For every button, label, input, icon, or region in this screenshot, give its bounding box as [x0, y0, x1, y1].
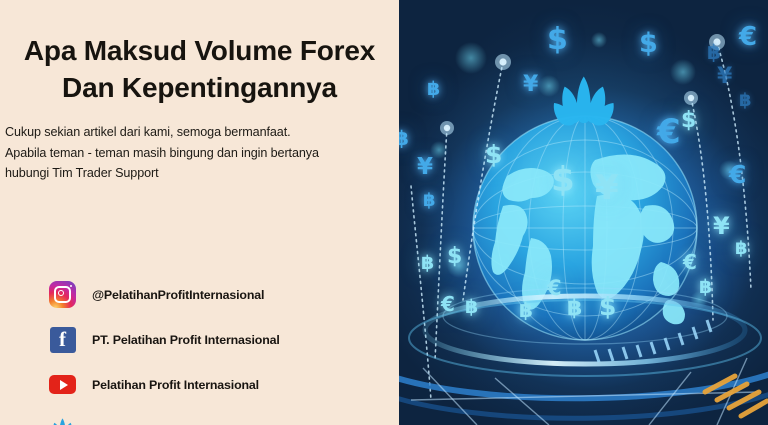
currency-symbol-baht: ฿ [739, 90, 752, 111]
lotus-logo-icon [48, 415, 77, 425]
social-link-youtube[interactable]: Pelatihan Profit Internasional [48, 362, 398, 407]
social-link-website[interactable]: www.PelatihanProfitInternasional.com [48, 407, 398, 425]
poster-canvas: Apa Maksud Volume Forex Dan Kepentingann… [0, 0, 768, 425]
currency-symbol-baht: ฿ [699, 276, 712, 298]
page-title-line-1: Apa Maksud Volume Forex [0, 33, 399, 70]
currency-symbol-baht: ฿ [423, 190, 436, 211]
social-link-facebook[interactable]: f PT. Pelatihan Profit Internasional [48, 317, 398, 362]
currency-symbol-dollar: $ [547, 22, 568, 57]
currency-symbol-dollar: $ [599, 292, 616, 321]
currency-symbol-dollar: $ [681, 108, 696, 133]
currency-symbol-dollar: $ [639, 28, 658, 59]
currency-symbol-euro: € [441, 292, 455, 316]
currency-symbol-yen: ¥ [523, 72, 538, 97]
currency-symbol-baht: ฿ [465, 296, 478, 318]
social-label-facebook: PT. Pelatihan Profit Internasional [92, 333, 280, 347]
currency-symbol-baht: ฿ [399, 126, 409, 150]
page-title-line-2: Dan Kepentingannya [0, 70, 399, 107]
currency-symbol-yen: ¥ [417, 154, 433, 180]
body-line-1: Cukup sekian artikel dari kami, semoga b… [5, 122, 399, 143]
currency-symbol-baht: ฿ [735, 238, 748, 259]
currency-symbol-baht: ฿ [707, 40, 721, 64]
left-content-panel: Apa Maksud Volume Forex Dan Kepentingann… [0, 0, 399, 425]
forex-globe-illustration: $ $ € ฿ ¥ € ฿ ¥ € ฿ $ ¥ ฿ ฿ $ € ฿ € $ ¥ … [399, 0, 768, 425]
currency-symbol-euro: € [739, 22, 757, 52]
currency-symbol-euro: € [683, 250, 697, 274]
currency-symbol-euro: € [547, 276, 562, 300]
currency-symbol-baht: ฿ [421, 252, 434, 274]
social-label-youtube: Pelatihan Profit Internasional [92, 378, 259, 392]
body-paragraph: Cukup sekian artikel dari kami, semoga b… [5, 122, 399, 184]
currency-symbol-yen: ¥ [713, 212, 730, 240]
currency-symbol-yen: ¥ [717, 64, 732, 89]
social-link-instagram[interactable]: @PelatihanProfitInternasional [48, 272, 398, 317]
social-links-list: @PelatihanProfitInternasional f PT. Pela… [48, 272, 398, 425]
body-line-3: hubungi Tim Trader Support [5, 163, 399, 184]
social-label-instagram: @PelatihanProfitInternasional [92, 288, 264, 302]
currency-symbol-yen: ¥ [595, 168, 619, 208]
instagram-icon [48, 280, 77, 309]
page-title: Apa Maksud Volume Forex Dan Kepentingann… [0, 33, 399, 107]
body-line-2: Apabila teman - teman masih bingung dan … [5, 143, 399, 164]
currency-symbols-layer: $ $ € ฿ ¥ € ฿ ¥ € ฿ $ ¥ ฿ ฿ $ € ฿ € $ ¥ … [399, 0, 768, 425]
currency-symbol-baht: ฿ [519, 298, 533, 322]
currency-symbol-baht: ฿ [427, 78, 440, 100]
currency-symbol-dollar: $ [551, 160, 575, 200]
currency-symbol-euro: € [729, 160, 746, 189]
currency-symbol-euro: € [657, 112, 681, 152]
currency-symbol-dollar: $ [485, 140, 502, 169]
facebook-icon: f [48, 325, 77, 354]
currency-symbol-baht: ฿ [567, 296, 582, 321]
youtube-icon [48, 370, 77, 399]
currency-symbol-dollar: $ [447, 244, 462, 269]
